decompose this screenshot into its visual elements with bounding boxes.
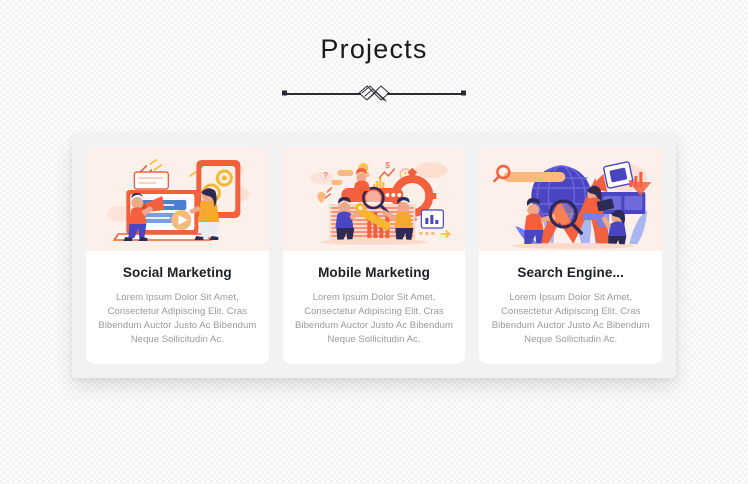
card-body: Search Engine... Lorem Ipsum Dolor Sit A… bbox=[479, 251, 662, 363]
projects-panel-wrapper: Social Marketing Lorem Ipsum Dolor Sit A… bbox=[72, 134, 676, 378]
divider-cap-right bbox=[461, 91, 466, 96]
search-engine-illustration bbox=[479, 148, 662, 251]
card-body: Mobile Marketing Lorem Ipsum Dolor Sit A… bbox=[283, 251, 466, 363]
svg-text:?: ? bbox=[323, 171, 328, 180]
card-description: Lorem Ipsum Dolor Sit Amet, Consectetur … bbox=[491, 291, 650, 347]
page-header: Projects bbox=[0, 0, 748, 106]
divider-line-right bbox=[387, 93, 461, 95]
card-title: Mobile Marketing bbox=[295, 265, 454, 280]
project-card[interactable]: ? $ bbox=[283, 148, 466, 364]
card-description: Lorem Ipsum Dolor Sit Amet, Consectetur … bbox=[295, 291, 454, 347]
page-title: Projects bbox=[0, 32, 748, 66]
section-divider bbox=[281, 80, 467, 106]
divider-line-left bbox=[287, 93, 361, 95]
projects-panel: Social Marketing Lorem Ipsum Dolor Sit A… bbox=[72, 134, 676, 378]
project-card[interactable]: Social Marketing Lorem Ipsum Dolor Sit A… bbox=[86, 148, 269, 364]
project-card[interactable]: Search Engine... Lorem Ipsum Dolor Sit A… bbox=[479, 148, 662, 364]
mobile-marketing-illustration: ? $ bbox=[283, 148, 466, 251]
handshake-ornament-icon bbox=[357, 80, 391, 106]
card-title: Search Engine... bbox=[491, 265, 650, 280]
card-body: Social Marketing Lorem Ipsum Dolor Sit A… bbox=[86, 251, 269, 363]
card-description: Lorem Ipsum Dolor Sit Amet, Consectetur … bbox=[98, 291, 257, 347]
social-marketing-illustration bbox=[86, 148, 269, 251]
card-title: Social Marketing bbox=[98, 265, 257, 280]
svg-text:$: $ bbox=[385, 161, 390, 170]
